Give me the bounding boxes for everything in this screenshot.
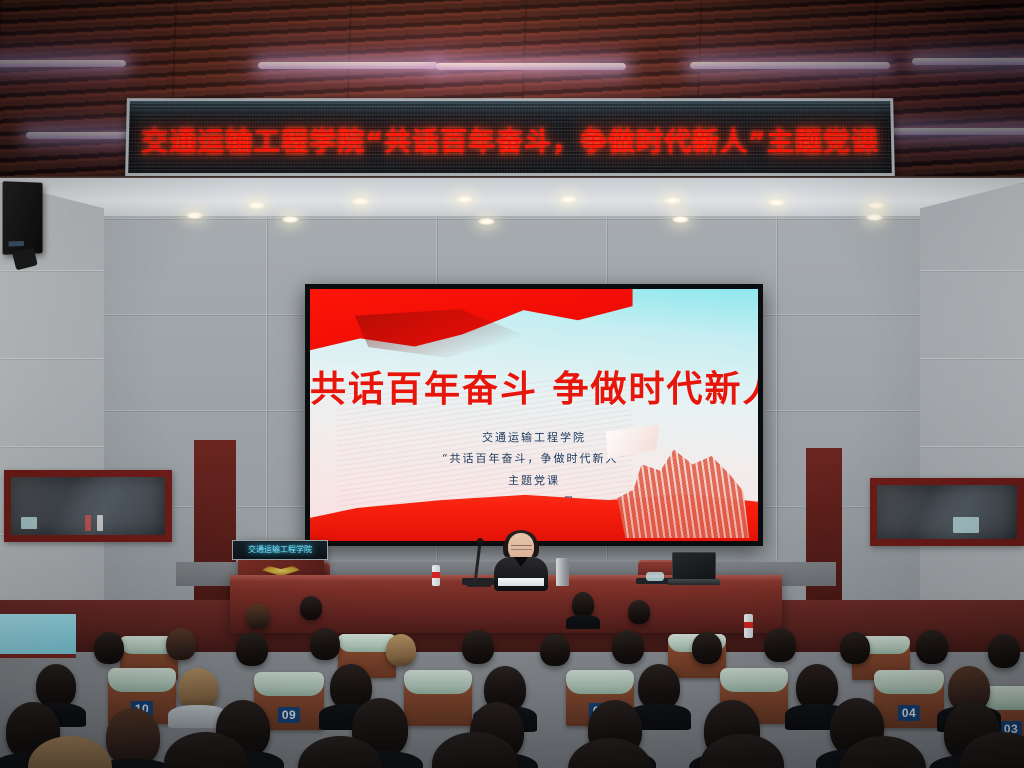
seat-cushion (254, 672, 324, 696)
ceiling-downlight (352, 198, 369, 205)
audience-head (988, 634, 1020, 668)
right-wall-panel-lines (920, 182, 1024, 622)
led-display-screen: 共话百年奋斗 争做时代新人 交通运输工程学院 “共话百年奋斗，争做时代新人” 主… (305, 284, 763, 546)
seat-number: 09 (278, 707, 300, 723)
slide-content: 共话百年奋斗 争做时代新人 交通运输工程学院 “共话百年奋斗，争做时代新人” 主… (310, 289, 758, 541)
ceiling-downlight (186, 212, 203, 219)
podium-led-display: 交通运输工程学院 (232, 540, 328, 560)
stage-right-door (806, 448, 842, 612)
audience-head (916, 630, 948, 664)
audience-head (764, 628, 796, 662)
water-bottle (432, 565, 440, 586)
ceiling-downlight (868, 202, 885, 209)
window-object (21, 517, 37, 529)
audience-head (236, 632, 268, 666)
presenter-glasses (511, 545, 532, 550)
seat-number: 04 (898, 705, 920, 721)
audience-head (692, 632, 722, 664)
audience-head (300, 596, 322, 620)
audience-head (540, 634, 570, 666)
podium-led-text: 交通运输工程学院 (233, 544, 327, 555)
audience-seating: 10 09 08 04 03 (0, 590, 1024, 768)
audience-head (628, 600, 650, 624)
audience-head (246, 604, 270, 629)
right-wall (920, 182, 1024, 622)
audience-head (36, 664, 76, 708)
slide-subtitle-line-1: 交通运输工程学院 (310, 429, 758, 445)
wall-speaker (3, 181, 43, 255)
audience-head (386, 634, 416, 666)
presenter-notes (498, 578, 544, 586)
laptop-screen (672, 552, 716, 580)
audience-head (840, 632, 870, 664)
seat-cushion (404, 670, 472, 694)
audience-head (166, 628, 196, 660)
laptop-keyboard-base (668, 579, 720, 585)
lecture-hall-photo: 交通运输工程学院“共话百年奋斗，争做时代新人”主题党课 (0, 0, 1024, 768)
led-banner-text: 交通运输工程学院“共话百年奋斗，争做时代新人”主题党课 (129, 120, 892, 159)
ceiling-downlight (768, 199, 785, 206)
audience-head (612, 630, 644, 664)
audience-head (462, 630, 494, 664)
seat-cushion (108, 668, 176, 692)
ceiling-downlight (456, 196, 473, 203)
audience-head (572, 592, 594, 618)
thermos-cup (556, 558, 569, 586)
left-control-window (4, 470, 172, 542)
seat-cushion (720, 668, 788, 692)
ceiling-downlight (478, 218, 495, 225)
audience-head (94, 632, 124, 664)
auditorium-seat[interactable] (404, 670, 472, 726)
ceiling-downlight (664, 197, 681, 204)
ceiling-downlight (282, 216, 299, 223)
microphone-base (466, 580, 492, 587)
window-object (953, 517, 979, 533)
audience-head (178, 668, 218, 710)
window-object (85, 515, 91, 531)
auditorium-seat[interactable]: 04 (874, 670, 944, 728)
ceiling-downlight (248, 202, 265, 209)
window-object (97, 515, 103, 531)
audience-head (310, 628, 340, 660)
audience-head (106, 708, 160, 766)
audience-head (796, 664, 838, 710)
ceiling-downlight (560, 196, 577, 203)
right-window-reflection (877, 485, 1017, 539)
ceiling-downlight (866, 214, 883, 221)
laptop (668, 552, 716, 584)
seat-cushion (874, 670, 944, 694)
seat-cushion (566, 670, 634, 694)
slide-title: 共话百年奋斗 争做时代新人 (310, 360, 758, 412)
table-cyan-object (646, 572, 664, 581)
right-control-window (870, 478, 1024, 546)
ceiling-downlight (672, 216, 689, 223)
audience-head (638, 664, 680, 710)
led-banner: 交通运输工程学院“共话百年奋斗，争做时代新人”主题党课 (125, 98, 895, 176)
